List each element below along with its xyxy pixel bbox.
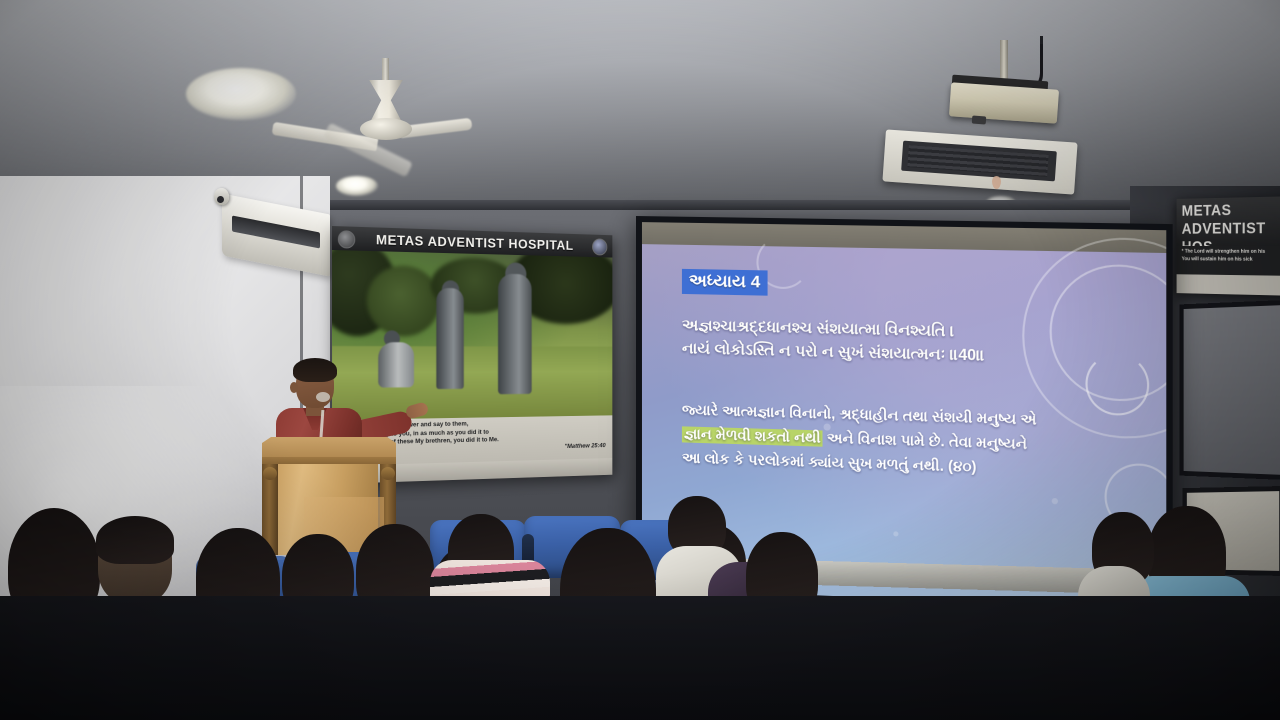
projector-lens-icon: [972, 116, 987, 125]
poster-logo-left-icon: [338, 230, 355, 248]
foreground-floor-shadow: [0, 596, 1280, 720]
security-camera-lens: [217, 196, 224, 203]
right-wall-panel-upper: [1179, 300, 1280, 480]
right-poster-body: [1177, 274, 1280, 296]
poster-logo-right-icon: [592, 238, 607, 255]
poster-header-title: METAS ADVENTIST HOSPITAL: [376, 231, 574, 252]
podium-edge: [262, 457, 396, 464]
poster-statue-standing-1: [436, 288, 463, 389]
slide-decor-dot-2: [893, 531, 898, 536]
ceiling-light-small-icon: [336, 176, 378, 196]
podium-top-surface: [262, 437, 396, 457]
right-poster-sub-2: You will sustain him on his sick: [1182, 255, 1280, 264]
slide-decor-dot-3: [1052, 498, 1058, 504]
seminar-hall-photo: METAS ADVENTIST HOSPITAL "And the King w…: [0, 0, 1280, 720]
podium-knob-left: [263, 467, 277, 480]
ceiling-light-main-icon: [186, 68, 296, 120]
slide-translation: જ્યારે આત્મજ્ઞાન વિનાનો, શ્રદ્ધાહીન તથા …: [682, 399, 1139, 486]
ceiling-wall-lip: [300, 200, 1160, 210]
right-poster-subtext: * The Lord will strengthen him on his Yo…: [1177, 246, 1280, 276]
slide-sanskrit-verse: અજ્ઞશ્ચાશ્રદ્દધાનશ્ચ સંશયાત્મા વિનશ્યતિ …: [682, 314, 1139, 372]
slide-chapter-tag: અધ્યાય 4: [682, 269, 768, 296]
podium-knob-right: [381, 467, 395, 480]
metas-hospital-poster-right: METAS ADVENTIST HOS * The Lord will stre…: [1177, 196, 1280, 296]
slide-translation-highlight: જ્ઞાન મેળવી શકતો નથી: [682, 427, 823, 447]
audience-hair-2: [96, 516, 174, 564]
speaker-hair: [293, 358, 337, 382]
poster-foliage-2: [367, 265, 440, 337]
microphone-icon: [316, 392, 330, 402]
right-poster-header: METAS ADVENTIST HOS: [1177, 196, 1280, 246]
speaker-ear: [290, 382, 298, 393]
ceiling-fan-hub: [360, 118, 412, 140]
right-poster-line-1: METAS: [1182, 200, 1280, 221]
slide-translation-line-2-rest: અને વિનાશ પામે છે. તેવા મનુષ્યને: [823, 431, 1027, 453]
slide-content: અધ્યાય 4 અજ્ઞશ્ચાશ્રદ્દધાનશ્ચ સંશયાત્મા …: [682, 269, 1139, 486]
poster-statue-standing-2: [498, 274, 532, 395]
